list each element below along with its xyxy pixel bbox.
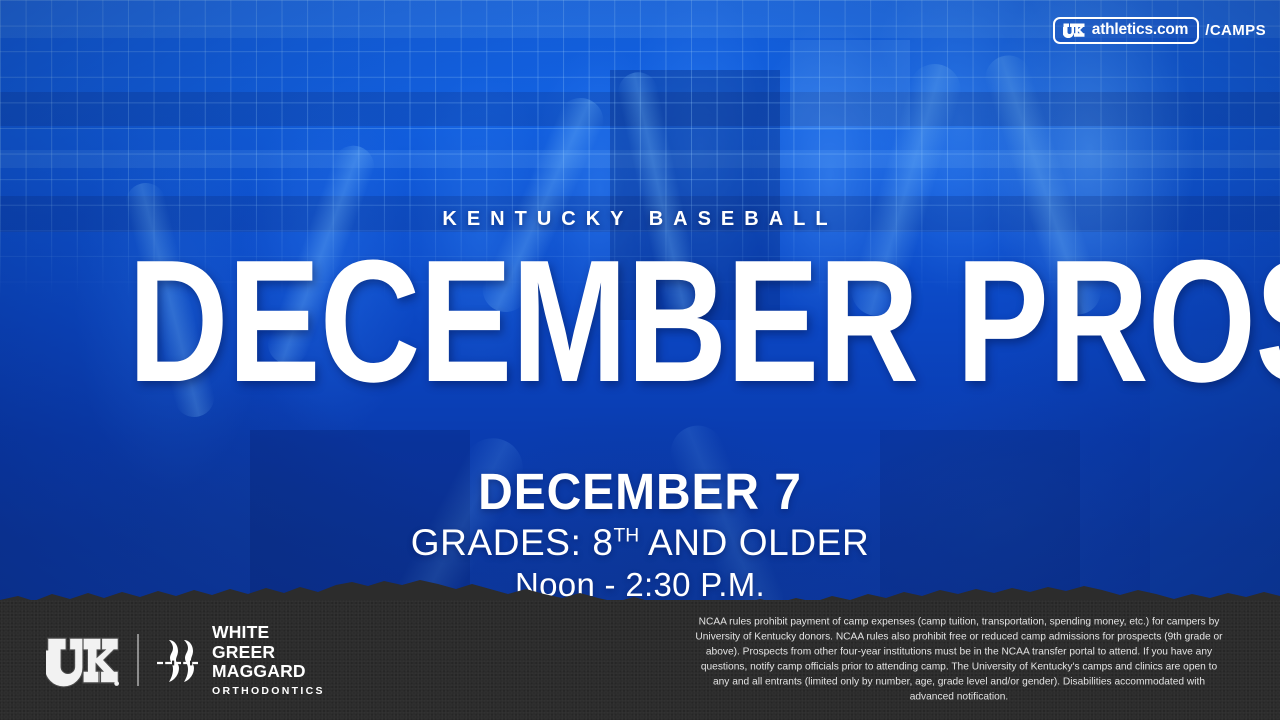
footer-content: WHITE GREER MAGGARD ORTHODONTICS NCAA ru… [0,600,1280,720]
sponsor-logo-group: WHITE GREER MAGGARD ORTHODONTICS [46,624,325,696]
camps-suffix-label: /CAMPS [1205,23,1266,38]
page-title: DECEMBER PROSPECT CAMP [128,244,1152,397]
athletics-badge-box[interactable]: athletics.com [1053,17,1199,44]
grades-ordinal-suffix: TH [614,526,640,547]
athletics-site-label: athletics.com [1092,22,1188,38]
sponsor-line-3: MAGGARD [212,663,325,681]
camp-flyer: athletics.com /CAMPS KENTUCKY BASEBALL D… [0,0,1280,720]
sponsor-subtitle: ORTHODONTICS [212,686,325,697]
footer-section: WHITE GREER MAGGARD ORTHODONTICS NCAA ru… [0,600,1280,720]
ukathletics-badge[interactable]: athletics.com /CAMPS [1053,17,1266,44]
event-date: DECEMBER 7 [38,466,1241,517]
ncaa-disclaimer: NCAA rules prohibit payment of camp expe… [694,615,1224,706]
grades-prefix: GRADES: 8 [411,522,614,563]
sponsor-line-1: WHITE [212,624,325,642]
grades-suffix: AND OLDER [639,522,869,563]
uk-logo-icon [46,632,120,688]
white-greer-maggard-logo: WHITE GREER MAGGARD ORTHODONTICS [156,624,325,696]
sponsor-name: WHITE GREER MAGGARD ORTHODONTICS [212,624,325,696]
uk-logo-icon [1063,22,1085,38]
face-profiles-icon [156,638,202,682]
sponsor-line-2: GREER [212,644,325,662]
event-grades: GRADES: 8TH AND OLDER [0,524,1280,561]
logo-divider [137,634,139,686]
